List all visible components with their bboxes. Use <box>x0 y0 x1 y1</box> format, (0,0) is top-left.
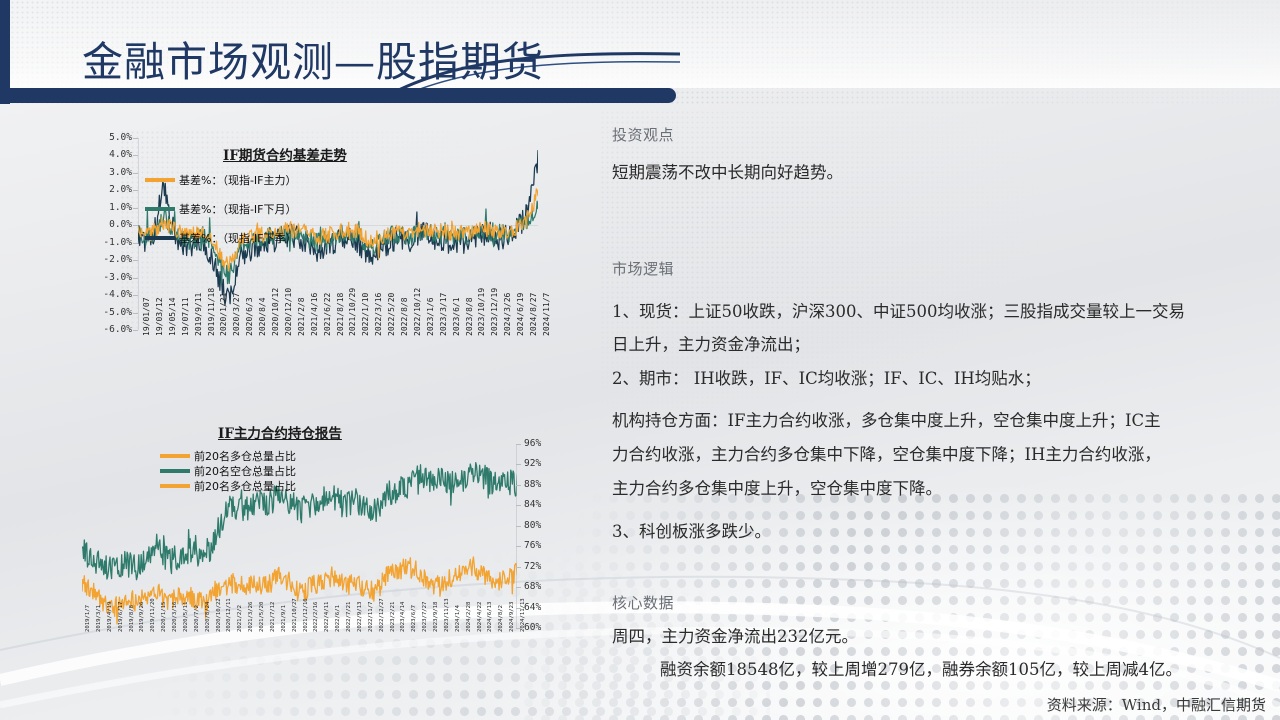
legend-swatch-icon <box>160 484 190 488</box>
x-axis-tick-label: 2021/4/16 <box>310 293 319 336</box>
legend-swatch-icon <box>160 469 190 473</box>
y-axis-tick-mark <box>133 330 138 331</box>
x-axis-tick-label: 2020/1/21 <box>219 293 228 336</box>
page-title: 金融市场观测—股指期货 <box>82 37 544 87</box>
x-axis-tick-label: 2019/3/1 <box>96 605 102 632</box>
x-axis-tick-label: 2023/11/13 <box>444 598 450 632</box>
slide-root: 金融市场观测—股指期货 IF期货合约基差走势 5.0%4.0%3.0%2.0%1… <box>0 0 1280 720</box>
x-axis-tick-label: 2020/5/11 <box>183 602 189 632</box>
x-axis-tick-label: 19/01/07 <box>142 297 151 336</box>
x-axis-tick-label: 2023/8/8 <box>465 297 474 336</box>
market-logic-line-6: 主力合约多仓集中度上升，空仓集中度下降。 <box>612 474 942 504</box>
legend-label: 前20名空仓总量占比 <box>194 463 296 479</box>
x-axis-tick-label: 2020/3/27 <box>232 293 241 336</box>
chart-if-basis-legend: 基差%：（现指-IF主力） 基差%：（现指-IF下月） 基差%：（现指-IF下季… <box>145 172 297 245</box>
x-axis-tick-label: 2019/11/18 <box>207 288 216 336</box>
x-axis-tick-label: 2020/10/12 <box>271 288 280 336</box>
legend-item: 前20名空仓总量占比 <box>160 463 296 478</box>
x-axis-tick-label: 2024/8/27 <box>529 293 538 336</box>
legend-label: 基差%：（现指-IF下月） <box>179 201 297 217</box>
y-axis-tick-mark <box>516 485 521 486</box>
x-axis-tick-label: 2020/1/15 <box>161 602 167 632</box>
x-axis-tick-label: 2020/6/3 <box>245 297 254 336</box>
y-axis-tick-mark <box>516 444 521 445</box>
y-axis-tick-label: 88% <box>524 479 541 490</box>
y-axis-tick-label: -3.0% <box>60 272 132 283</box>
investment-view-text: 短期震荡不改中长期向好趋势。 <box>612 158 843 188</box>
x-axis-tick-label: 2022/6/1 <box>335 605 341 632</box>
x-axis-tick-label: 2022/9/13 <box>357 602 363 632</box>
x-axis-tick-label: 2023/3/17 <box>439 293 448 336</box>
x-axis-tick-label: 2024/2/28 <box>466 602 472 632</box>
y-axis-tick-label: -1.0% <box>60 237 132 248</box>
x-axis-tick-label: 2024/6/13 <box>487 602 493 632</box>
x-axis-tick-label: 2022/8/8 <box>400 297 409 336</box>
source-note: 资料来源：Wind，中融汇信期货 <box>1047 694 1266 715</box>
x-axis-tick-label: 2021/2/2 <box>237 605 243 632</box>
header-rule <box>0 88 660 103</box>
x-axis-tick-label: 2022/5/20 <box>387 293 396 336</box>
x-axis-tick-label: 2023/10/19 <box>477 288 486 336</box>
section-head-market-logic: 市场逻辑 <box>612 258 674 279</box>
y-axis-tick-mark <box>516 526 521 527</box>
x-axis-tick-label: 2023/6/1 <box>452 297 461 336</box>
y-axis-tick-label: 92% <box>524 458 541 469</box>
section-head-investment-view: 投资观点 <box>612 124 674 145</box>
x-axis-tick-label: 2024/4/22 <box>477 602 483 632</box>
y-axis-tick-label: 5.0% <box>60 132 132 143</box>
x-axis-tick-label: 2022/1/10 <box>361 293 370 336</box>
x-axis-tick-label: 2022/2/16 <box>313 602 319 632</box>
x-axis-tick-label: 2021/3/26 <box>248 602 254 632</box>
y-axis-tick-label: 3.0% <box>60 167 132 178</box>
legend-swatch-icon <box>145 178 175 182</box>
x-axis-tick-label: 2020/12/11 <box>226 598 232 632</box>
market-logic-line-5: 力合约收涨，主力合约多仓集中下降，空仓集中度下降；IH主力合约收涨， <box>612 440 1161 470</box>
y-axis-tick-label: 76% <box>524 540 541 551</box>
market-logic-line-3: 2、期市： IH收跌，IF、IC均收涨；IF、IC、IH均贴水； <box>612 364 1041 394</box>
chart-if-position-legend: 前20名多仓总量占比 前20名空仓总量占比 前20名多仓总量占比 <box>160 448 296 493</box>
x-axis-tick-label: 2019/1/7 <box>85 605 91 632</box>
x-axis-tick-label: 2024/9/23 <box>509 602 515 632</box>
x-axis-tick-label: 2024/1/4 <box>455 605 461 632</box>
legend-label: 前20名多仓总量占比 <box>194 478 296 494</box>
legend-swatch-icon <box>145 236 175 240</box>
x-axis-tick-label: 2021/2/8 <box>297 297 306 336</box>
x-axis-tick-label: 2021/8/18 <box>336 293 345 336</box>
x-axis-tick-label: 2021/10/29 <box>348 288 357 336</box>
legend-item: 基差%：（现指-IF主力） <box>145 172 297 187</box>
x-axis-tick-label: 19/05/14 <box>168 297 177 336</box>
y-axis-tick-label: 68% <box>524 581 541 592</box>
chart-if-position-plot <box>82 444 517 628</box>
x-axis-tick-label: 2021/10/27 <box>292 598 298 632</box>
y-axis-tick-mark <box>516 567 521 568</box>
x-axis-tick-label: 2022/7/21 <box>346 602 352 632</box>
x-axis-tick-label: 2022/4/11 <box>324 602 330 632</box>
x-axis-tick-label: 2022/3/16 <box>374 293 383 336</box>
legend-item: 前20名多仓总量占比 <box>160 448 296 463</box>
x-axis-tick-label: 2020/3/16 <box>172 602 178 632</box>
legend-item: 前20名多仓总量占比 <box>160 478 296 493</box>
y-axis-tick-label: 60% <box>524 622 541 633</box>
x-axis-tick-label: 2022/10/12 <box>413 288 422 336</box>
x-axis-tick-label: 2023/2/21 <box>390 602 396 632</box>
legend-item: 基差%：（现指-IF下月） <box>145 201 297 216</box>
legend-swatch-icon <box>145 207 175 211</box>
y-axis-tick-mark <box>516 505 521 506</box>
x-axis-tick-label: 2023/12/19 <box>490 288 499 336</box>
y-axis-tick-label: 64% <box>524 602 541 613</box>
x-axis-tick-label: 2019/4/19 <box>107 602 113 632</box>
y-axis-tick-label: 96% <box>524 438 541 449</box>
y-axis-tick-label: 4.0% <box>60 149 132 160</box>
x-axis-tick-label: 2024/3/26 <box>503 293 512 336</box>
x-axis-tick-label: 2021/9/1 <box>281 605 287 632</box>
x-axis-tick-label: 2019/9/26 <box>139 602 145 632</box>
legend-label: 前20名多仓总量占比 <box>194 448 296 464</box>
legend-label: 基差%：（现指-IF下季） <box>179 230 297 246</box>
y-axis-tick-label: -2.0% <box>60 254 132 265</box>
y-axis-tick-label: 0.0% <box>60 219 132 230</box>
chart-if-basis: IF期货合约基差走势 5.0%4.0%3.0%2.0%1.0%0.0%-1.0%… <box>60 130 560 420</box>
y-axis-tick-label: -4.0% <box>60 289 132 300</box>
chart-if-position-title: IF主力合约持仓报告 <box>218 422 342 442</box>
x-axis-tick-label: 2021/5/20 <box>259 602 265 632</box>
y-axis-tick-label: 84% <box>524 499 541 510</box>
y-axis-tick-mark <box>516 464 521 465</box>
y-axis-tick-label: 1.0% <box>60 202 132 213</box>
market-logic-line-1: 1、现货：上证50收跌，沪深300、中证500均收涨；三股指成交量较上一交易 <box>612 297 1185 327</box>
x-axis-tick-label: 19/07/11 <box>181 297 190 336</box>
x-axis-tick-label: 2023/1/6 <box>426 297 435 336</box>
x-axis-tick-label: 2021/7/12 <box>270 602 276 632</box>
y-axis-tick-mark <box>516 546 521 547</box>
y-axis-tick-label: 72% <box>524 561 541 572</box>
chart-if-position: IF主力合约持仓报告 96%92%88%84%80%76%72%68%64%60… <box>60 420 565 700</box>
x-axis-tick-label: 2021/12/16 <box>303 598 309 632</box>
core-data-line-1: 周四，主力资金净流出232亿元。 <box>612 622 858 652</box>
x-axis-tick-label: 2020/8/24 <box>205 602 211 632</box>
x-axis-tick-label: 2019/9/11 <box>194 293 203 336</box>
x-axis-tick-label: 2023/9/18 <box>433 602 439 632</box>
x-axis-tick-label: 2020/12/10 <box>284 288 293 336</box>
x-axis-tick-label: 2022/12/27 <box>379 598 385 632</box>
legend-item: 基差%：（现指-IF下季） <box>145 230 297 245</box>
y-axis-tick-label: 80% <box>524 520 541 531</box>
x-axis-tick-label: 2022/11/7 <box>368 602 374 632</box>
market-logic-line-2: 日上升，主力资金净流出； <box>612 330 810 360</box>
section-head-core-data: 核心数据 <box>612 592 674 613</box>
y-axis-tick-label: -6.0% <box>60 324 132 335</box>
y-axis-tick-mark <box>516 587 521 588</box>
x-axis-tick-label: 2019/11/20 <box>150 598 156 632</box>
y-axis-tick-label: 2.0% <box>60 184 132 195</box>
legend-label: 基差%：（现指-IF主力） <box>179 172 297 188</box>
core-data-line-2: 融资余额18548亿，较上周增279亿，融券余额105亿，较上周减4亿。 <box>660 655 1182 685</box>
x-axis-tick-label: 2020/7/2 <box>194 605 200 632</box>
x-axis-tick-label: 2019/8/8 <box>129 605 135 632</box>
x-axis-tick-label: 2024/8/2 <box>498 605 504 632</box>
legend-swatch-icon <box>160 454 190 458</box>
x-axis-tick-label: 2021/6/22 <box>323 293 332 336</box>
x-axis-tick-label: 2019/6/17 <box>118 602 124 632</box>
x-axis-tick-label: 2024/11/7 <box>542 293 551 336</box>
x-axis-tick-label: 2020/10/22 <box>216 598 222 632</box>
x-axis-tick-label: 2023/4/14 <box>400 602 406 632</box>
x-axis-tick-label: 2024/6/19 <box>516 293 525 336</box>
market-logic-line-4: 机构持仓方面：IF主力合约收涨，多仓集中度上升，空仓集中度上升；IC主 <box>612 406 1161 436</box>
header-rule-tail <box>640 88 676 103</box>
x-axis-tick-label: 19/03/12 <box>155 297 164 336</box>
y-axis-tick-label: -5.0% <box>60 307 132 318</box>
x-axis-tick-label: 2023/6/7 <box>411 605 417 632</box>
x-axis-tick-label: 2024/11/13 <box>520 598 526 632</box>
x-axis-tick-label: 2023/7/27 <box>422 602 428 632</box>
market-logic-line-7: 3、科创板涨多跌少。 <box>612 517 771 547</box>
x-axis-tick-label: 2020/8/4 <box>258 297 267 336</box>
